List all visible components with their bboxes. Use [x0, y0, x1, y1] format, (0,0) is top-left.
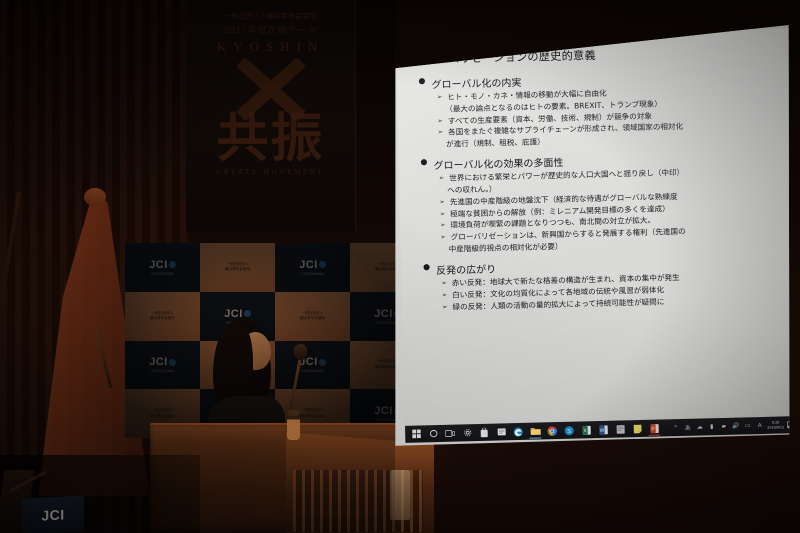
mail-icon[interactable] — [493, 424, 509, 439]
jci-lectern-sign: JCI — [22, 495, 84, 533]
projection-screen-area: グローバリゼーションの歴史的意義 ●グローバル化の内実➢ヒト・モノ・カネ・情報の… — [393, 22, 793, 452]
subbullet-arrow-icon: ➢ — [442, 290, 448, 300]
subbullet-arrow-icon: ➢ — [440, 221, 446, 231]
subbullet-arrow-icon: ➢ — [439, 198, 445, 208]
store-icon[interactable] — [476, 425, 492, 440]
banner-theme-year: 2017年度次期テーマ — [223, 23, 317, 36]
show-hidden-icons-icon[interactable]: ^ — [671, 422, 680, 433]
auditorium-photo: 一般社団法人横浜青年会議所 2017年度次期テーマ KYOSHIN 共振 CRE… — [0, 0, 800, 533]
slide-title: グローバリゼーションの歴史的意義 — [414, 42, 778, 67]
cortana-search-icon[interactable] — [425, 426, 441, 441]
screen-content: グローバリゼーションの歴史的意義 ●グローバル化の内実➢ヒト・モノ・カネ・情報の… — [393, 22, 791, 450]
excel-icon[interactable]: X — [578, 422, 594, 437]
chrome-icon[interactable] — [544, 423, 560, 438]
file-explorer-icon[interactable] — [527, 423, 543, 438]
subbullet-arrow-icon: ➢ — [437, 116, 443, 126]
volume-icon[interactable]: 🔊 — [731, 421, 740, 432]
slide-section-heading-text: グローバル化の効果の多面性 — [433, 154, 563, 172]
ime-mode-icon[interactable]: あ — [683, 422, 692, 433]
slide-sections: ●グローバル化の内実➢ヒト・モノ・カネ・情報の移動が大幅に自由化（最大の論点とな… — [410, 67, 784, 313]
slide-section: ●グローバル化の内実➢ヒト・モノ・カネ・情報の移動が大幅に自由化（最大の論点とな… — [410, 67, 780, 150]
bullet-glyph-icon: ● — [423, 262, 430, 273]
slide-section-heading-text: グローバル化の内実 — [431, 74, 521, 91]
banner-romaji: KYOSHIN — [217, 39, 325, 55]
water-bottle-cap — [288, 410, 299, 416]
network-icon[interactable]: ▰ — [719, 421, 728, 432]
clock-date: 2019/9/12 — [767, 425, 784, 430]
slide-section: ●反発の広がり➢赤い反発：地球大で新たな格差の構造が生まれ、資本の集中が発生➢白… — [415, 253, 784, 313]
subbullet-arrow-icon: ➢ — [442, 302, 448, 312]
onedrive-icon[interactable]: ☁ — [695, 421, 704, 432]
bullet-glyph-icon: ● — [420, 157, 427, 168]
subbullet-arrow-icon: ➢ — [437, 93, 443, 103]
banner-org-name: 一般社団法人横浜青年会議所 — [225, 10, 316, 20]
projection-screen: グローバリゼーションの歴史的意義 ●グローバル化の内実➢ヒト・モノ・カネ・情報の… — [393, 22, 791, 450]
start-button[interactable] — [408, 426, 424, 441]
slide-section: ●グローバル化の効果の多面性➢世界における繁栄とパワーが歴史的な人口大国へと揺り… — [412, 149, 782, 256]
system-tray[interactable]: ^あ☁▮▰🔊▭A — [671, 420, 766, 433]
svg-text:W: W — [599, 427, 604, 433]
subbullet-arrow-icon: ➢ — [438, 128, 444, 138]
ime-letter-icon[interactable]: A — [755, 420, 764, 431]
subbullet-arrow-icon: ➢ — [439, 174, 445, 184]
display-icon[interactable]: ▭ — [743, 420, 752, 431]
banner-kanji: 共振 — [216, 115, 324, 164]
slide-section-heading-text: 反発の広がり — [436, 261, 496, 277]
action-center-icon[interactable] — [785, 417, 791, 432]
microphone-head — [294, 344, 307, 360]
svg-text:S: S — [567, 428, 571, 434]
edge-icon[interactable] — [510, 424, 526, 439]
sticky-note-icon[interactable] — [629, 421, 645, 436]
speaker-person — [205, 318, 285, 438]
podium-plaque — [390, 470, 410, 520]
powerpoint-icon[interactable]: P — [646, 420, 662, 435]
word-icon[interactable]: W — [595, 422, 611, 437]
task-view-icon[interactable] — [442, 426, 458, 441]
jci-logo-text: JCI — [41, 506, 64, 523]
kyoshin-theme-banner: 一般社団法人横浜青年会議所 2017年度次期テーマ KYOSHIN 共振 CRE… — [186, 0, 356, 232]
taskbar-clock[interactable]: 9:28 2019/9/12 — [767, 420, 784, 430]
subbullet-arrow-icon: ➢ — [440, 233, 446, 243]
settings-icon[interactable] — [459, 425, 475, 440]
flag-knot — [84, 188, 106, 206]
skype-icon[interactable]: S — [561, 423, 577, 438]
banner-tagline: CREATE MOVEMENT — [217, 168, 325, 176]
battery-icon[interactable]: ▮ — [707, 421, 716, 432]
bullet-glyph-icon: ● — [418, 76, 425, 87]
subbullet-arrow-icon: ➢ — [440, 209, 446, 219]
subbullet-arrow-icon: ➢ — [441, 279, 447, 289]
powerpoint-slide: グローバリゼーションの歴史的意義 ●グローバル化の内実➢ヒト・モノ・カネ・情報の… — [393, 22, 791, 450]
water-bottle — [287, 414, 300, 440]
app-window-icon[interactable] — [612, 421, 628, 436]
slide-body: グローバリゼーションの歴史的意義 ●グローバル化の内実➢ヒト・モノ・カネ・情報の… — [395, 28, 791, 428]
